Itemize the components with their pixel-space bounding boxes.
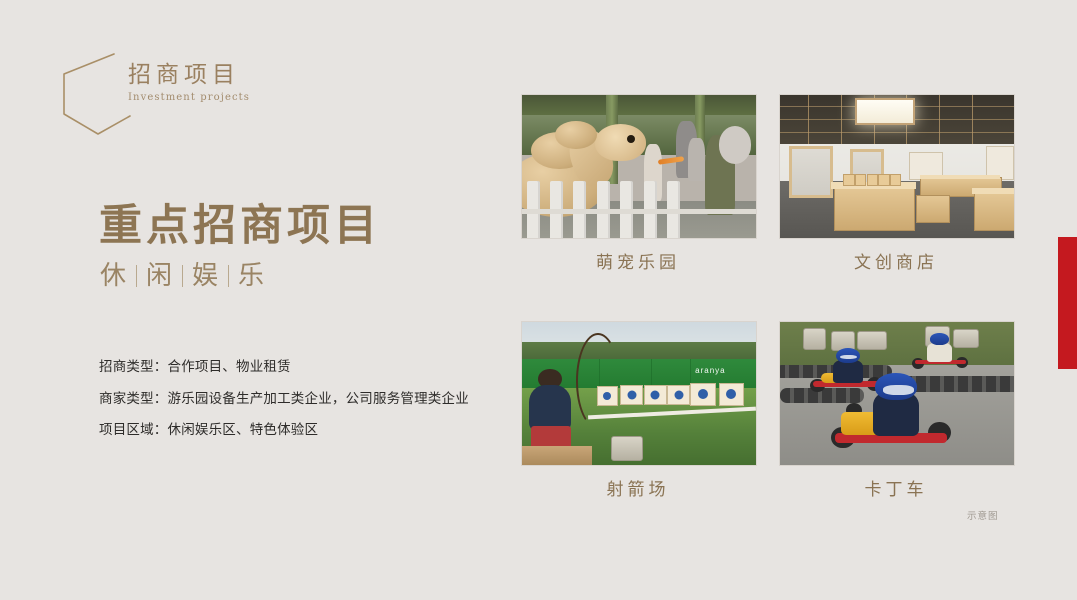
logo-block: 招商项目 Investment projects — [58, 48, 298, 140]
detail-value: 合作项目、物业租赁 — [168, 359, 291, 374]
detail-label: 项目区域： — [99, 422, 168, 437]
detail-row: 项目区域：休闲娱乐区、特色体验区 — [99, 423, 519, 437]
logo-text: 招商项目 Investment projects — [128, 62, 308, 103]
subtitle-char-2: 娱 — [192, 262, 219, 291]
photo-alpaca-petting-zoo[interactable] — [521, 94, 757, 239]
page-subtitle: 休 闲 娱 乐 — [100, 262, 265, 291]
detail-label: 招商类型： — [99, 359, 168, 374]
detail-row: 招商类型：合作项目、物业租赁 — [99, 360, 519, 374]
logo-title-cn: 招商项目 — [128, 62, 308, 88]
detail-label: 商家类型： — [99, 391, 168, 406]
photo-go-kart-track[interactable] — [779, 321, 1015, 466]
detail-row: 商家类型：游乐园设备生产加工类企业，公司服务管理类企业 — [99, 392, 519, 406]
detail-value: 休闲娱乐区、特色体验区 — [168, 422, 319, 437]
accent-bar — [1058, 237, 1077, 369]
photo-caption-go-kart-track: 卡丁车 — [779, 475, 1013, 500]
photo-artwork: aranya — [522, 322, 756, 465]
photo-caption-alpaca-petting-zoo: 萌宠乐园 — [521, 248, 755, 273]
photo-caption-archery-range: 射箭场 — [521, 475, 755, 500]
photo-artwork — [780, 95, 1014, 238]
photo-artwork — [780, 322, 1014, 465]
subtitle-char-0: 休 — [100, 262, 127, 291]
slide-root: 招商项目 Investment projects 重点招商项目 休 闲 娱 乐 … — [0, 0, 1077, 600]
page-title: 重点招商项目 — [99, 203, 381, 250]
photo-archery-range[interactable]: aranya — [521, 321, 757, 466]
detail-value: 游乐园设备生产加工类企业，公司服务管理类企业 — [168, 391, 469, 406]
photo-artwork — [522, 95, 756, 238]
subtitle-separator — [228, 265, 229, 287]
photo-cultural-creative-shop[interactable] — [779, 94, 1015, 239]
subtitle-char-3: 乐 — [238, 262, 265, 291]
subtitle-separator — [182, 265, 183, 287]
detail-list: 招商类型：合作项目、物业租赁 商家类型：游乐园设备生产加工类企业，公司服务管理类… — [99, 360, 519, 437]
subtitle-char-1: 闲 — [146, 262, 173, 291]
hexagon-outline-icon — [58, 52, 136, 136]
photo-caption-cultural-creative-shop: 文创商店 — [779, 248, 1013, 273]
subtitle-separator — [136, 265, 137, 287]
logo-title-en: Investment projects — [128, 92, 308, 103]
footnote-label: 示意图 — [967, 508, 999, 522]
